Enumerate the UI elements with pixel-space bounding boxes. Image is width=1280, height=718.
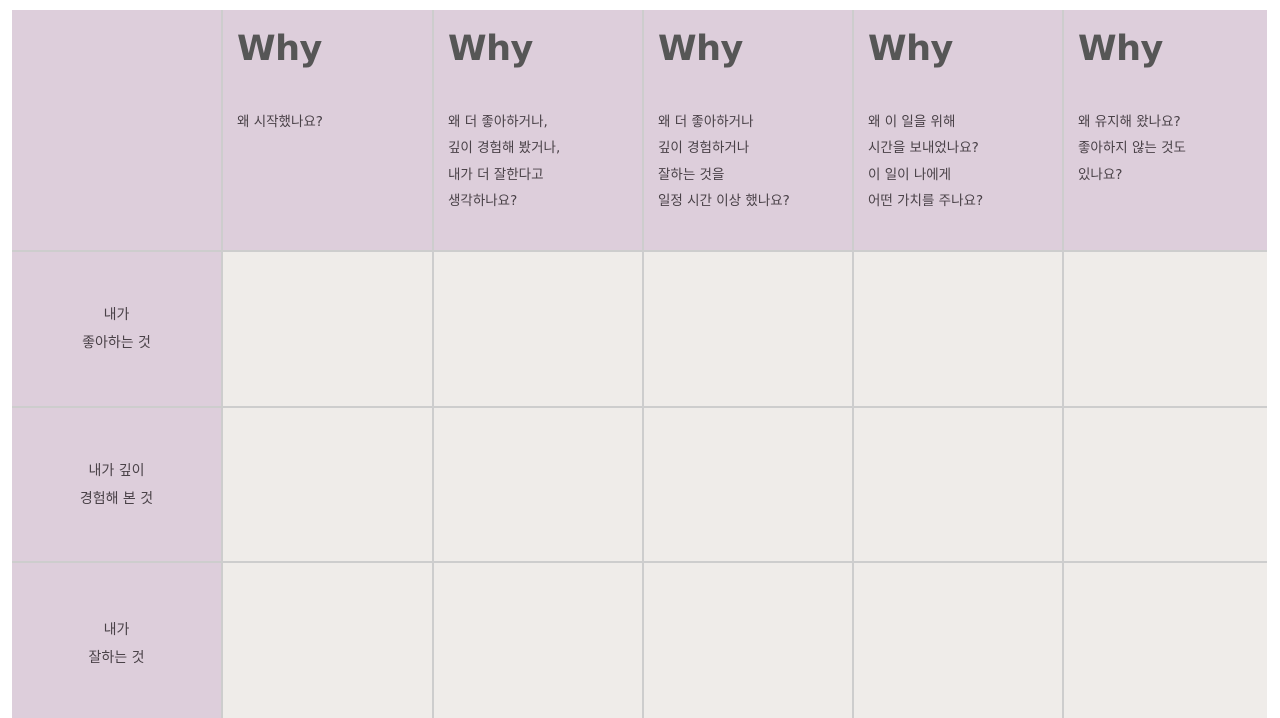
- column-question: 왜 유지해 왔나요? 좋아하지 않는 것도 있나요?: [1078, 109, 1259, 188]
- matrix-cell-skill-why-4[interactable]: [854, 563, 1062, 718]
- column-question: 왜 더 좋아하거나, 깊이 경험해 봤거나, 내가 더 잘한다고 생각하나요?: [448, 109, 628, 214]
- column-question: 왜 이 일을 위해 시간을 보내었나요? 이 일이 나에게 어떤 가치를 주나요…: [868, 109, 1048, 214]
- column-header-why-1: Why 왜 시작했나요?: [223, 10, 432, 250]
- matrix-cell-experience-why-3[interactable]: [644, 408, 852, 561]
- column-question: 왜 더 좋아하거나 깊이 경험하거나 잘하는 것을 일정 시간 이상 했나요?: [658, 109, 838, 214]
- row-header-experience: 내가 깊이 경험해 본 것: [12, 408, 221, 561]
- matrix-cell-like-why-5[interactable]: [1064, 252, 1267, 406]
- matrix-cell-experience-why-4[interactable]: [854, 408, 1062, 561]
- row-header-like: 내가 좋아하는 것: [12, 252, 221, 406]
- matrix-cell-skill-why-3[interactable]: [644, 563, 852, 718]
- matrix-cell-like-why-3[interactable]: [644, 252, 852, 406]
- matrix-cell-skill-why-5[interactable]: [1064, 563, 1267, 718]
- matrix-corner-cell: [12, 10, 221, 250]
- matrix-cell-like-why-1[interactable]: [223, 252, 432, 406]
- why-matrix-board: Why 왜 시작했나요? Why 왜 더 좋아하거나, 깊이 경험해 봤거나, …: [12, 10, 1267, 718]
- matrix-cell-skill-why-2[interactable]: [434, 563, 642, 718]
- column-title: Why: [237, 32, 418, 67]
- column-header-why-2: Why 왜 더 좋아하거나, 깊이 경험해 봤거나, 내가 더 잘한다고 생각하…: [434, 10, 642, 250]
- matrix-cell-experience-why-1[interactable]: [223, 408, 432, 561]
- column-title: Why: [448, 32, 628, 67]
- matrix-cell-experience-why-2[interactable]: [434, 408, 642, 561]
- matrix-cell-like-why-4[interactable]: [854, 252, 1062, 406]
- column-question: 왜 시작했나요?: [237, 109, 418, 135]
- column-title: Why: [658, 32, 838, 67]
- column-header-why-3: Why 왜 더 좋아하거나 깊이 경험하거나 잘하는 것을 일정 시간 이상 했…: [644, 10, 852, 250]
- matrix-cell-skill-why-1[interactable]: [223, 563, 432, 718]
- column-title: Why: [1078, 32, 1259, 67]
- column-title: Why: [868, 32, 1048, 67]
- matrix-cell-experience-why-5[interactable]: [1064, 408, 1267, 561]
- column-header-why-5: Why 왜 유지해 왔나요? 좋아하지 않는 것도 있나요?: [1064, 10, 1267, 250]
- column-header-why-4: Why 왜 이 일을 위해 시간을 보내었나요? 이 일이 나에게 어떤 가치를…: [854, 10, 1062, 250]
- row-header-skill: 내가 잘하는 것: [12, 563, 221, 718]
- matrix-cell-like-why-2[interactable]: [434, 252, 642, 406]
